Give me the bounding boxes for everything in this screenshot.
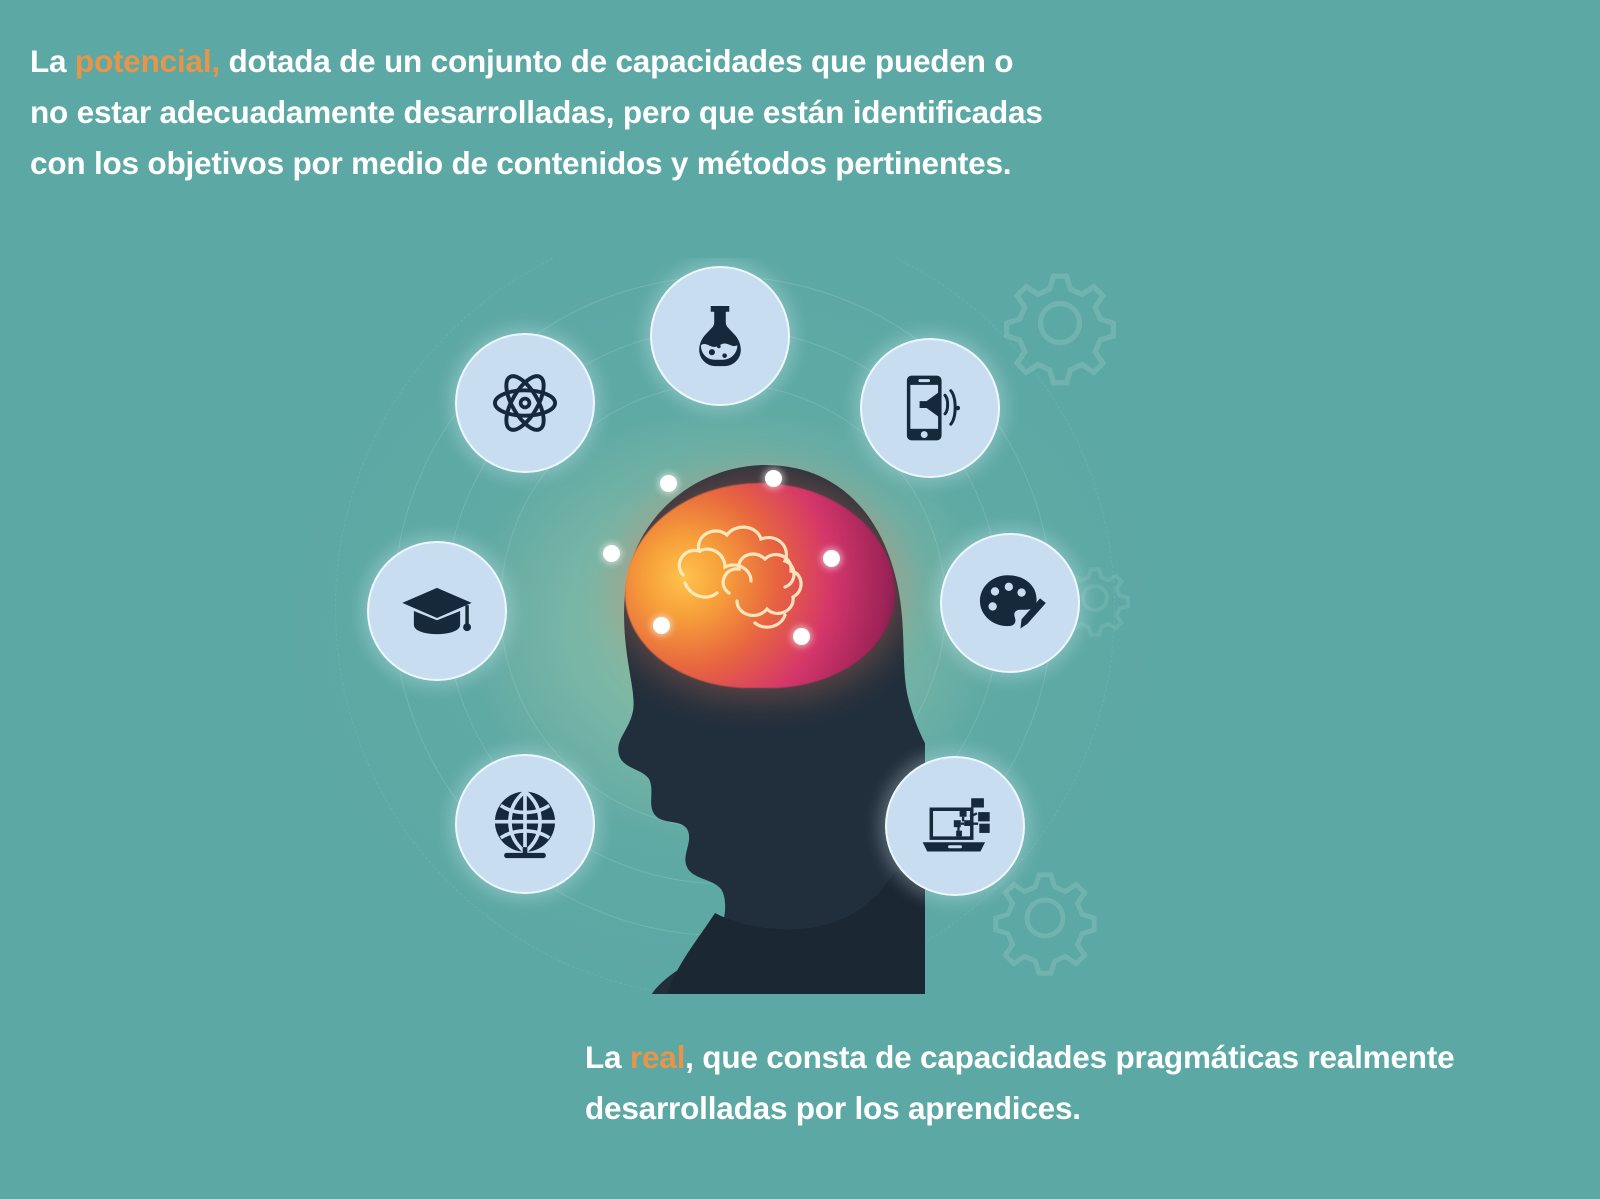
graduation-cap-icon — [400, 574, 474, 648]
icon-bubble-laptop-network[interactable] — [885, 756, 1025, 896]
icon-bubble-globe[interactable] — [455, 754, 595, 894]
paragraph-bottom-accent-word: real — [630, 1039, 685, 1075]
gear-icon-top-right — [995, 258, 1125, 388]
paragraph-real: La real, que consta de capacidades pragm… — [585, 1032, 1485, 1134]
smartphone-megaphone-icon — [893, 371, 967, 445]
brain-node — [653, 617, 670, 634]
icon-bubble-flask[interactable] — [650, 266, 790, 406]
laptop-network-icon — [918, 789, 992, 863]
paragraph-bottom-lead: La — [585, 1039, 630, 1075]
atom-icon — [488, 366, 562, 440]
brain-node — [793, 628, 810, 645]
brain-node — [823, 550, 840, 567]
central-illustration — [295, 258, 1150, 994]
icon-bubble-graduation-cap[interactable] — [367, 541, 507, 681]
paragraph-top-lead: La — [30, 43, 75, 79]
brain-folds-outline — [625, 483, 895, 688]
flask-icon — [683, 299, 757, 373]
icon-bubble-palette[interactable] — [940, 533, 1080, 673]
slide-canvas: La potencial, dotada de un conjunto de c… — [0, 0, 1600, 1199]
icon-bubble-atom[interactable] — [455, 333, 595, 473]
globe-stand-icon — [488, 787, 562, 861]
paragraph-potencial: La potencial, dotada de un conjunto de c… — [30, 36, 1050, 189]
brain-node — [765, 470, 782, 487]
brain-node — [603, 545, 620, 562]
paragraph-bottom-rest: , que consta de capacidades pragmáticas … — [585, 1039, 1454, 1126]
brain-node — [660, 475, 677, 492]
palette-icon — [973, 566, 1047, 640]
icon-bubble-smartphone-megaphone[interactable] — [860, 338, 1000, 478]
paragraph-top-accent-word: potencial, — [75, 43, 220, 79]
